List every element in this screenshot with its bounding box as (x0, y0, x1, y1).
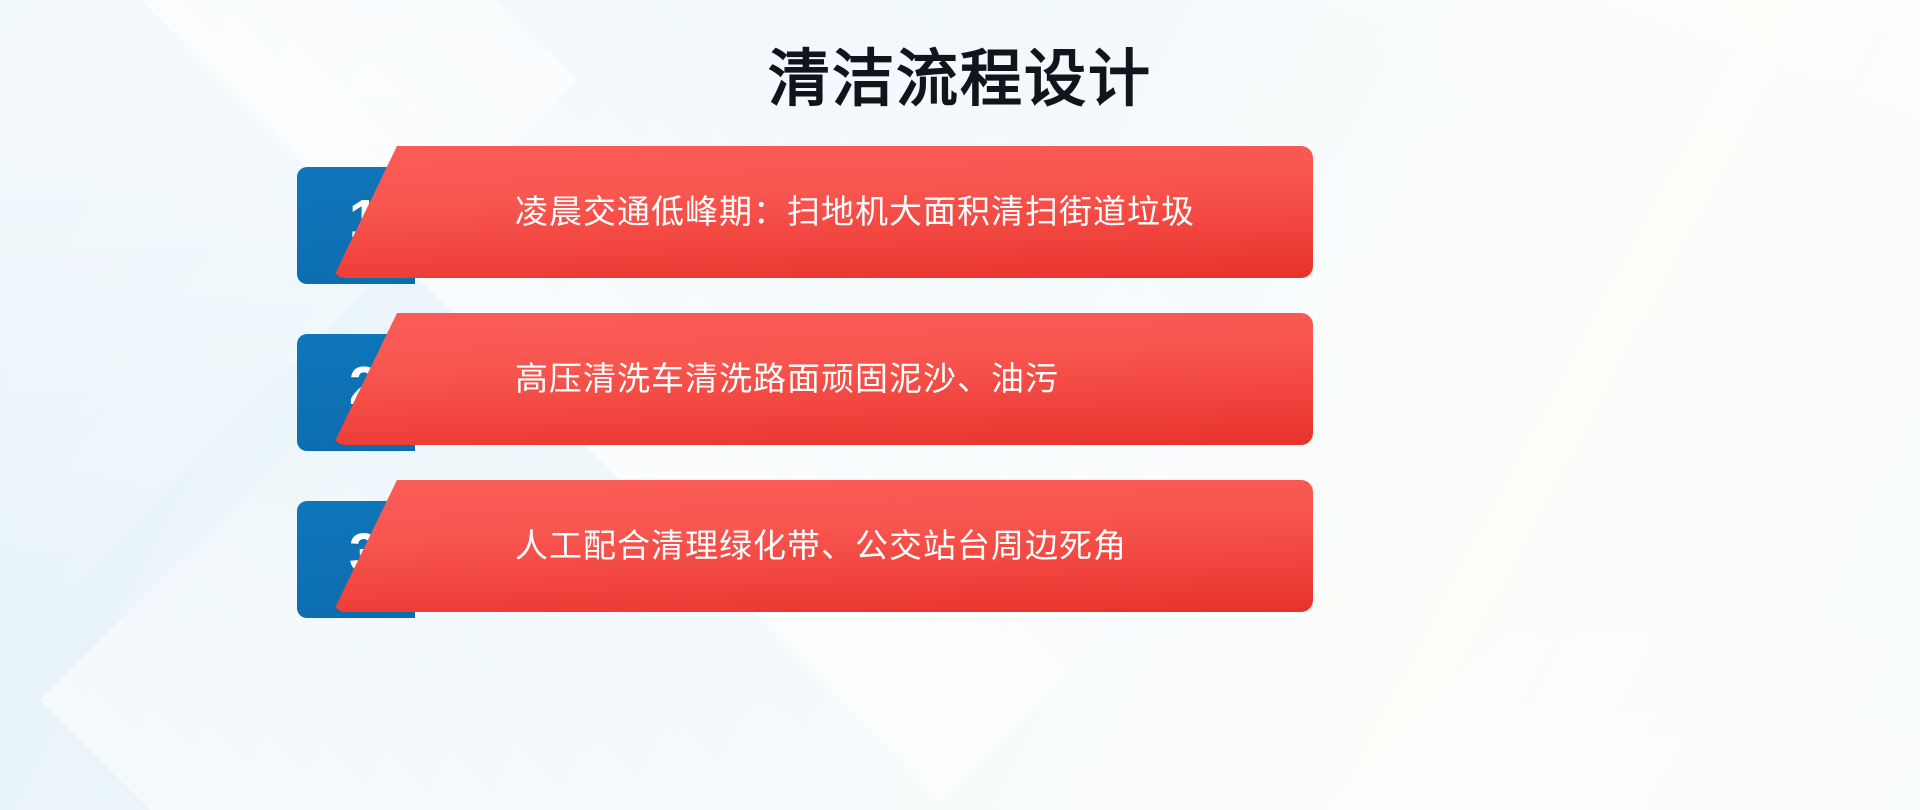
step-text-label: 高压清洗车清洗路面顽固泥沙、油污 (333, 358, 1089, 400)
step-row[interactable]: 3 人工配合清理绿化带、公交站台周边死角 (297, 480, 1577, 618)
step-row[interactable]: 2 高压清洗车清洗路面顽固泥沙、油污 (297, 313, 1577, 451)
step-list: 1 凌晨交通低峰期：扫地机大面积清扫街道垃圾 2 高压清洗车清洗路面顽固泥沙、油… (297, 146, 1577, 618)
slide-canvas: 清洁流程设计 1 凌晨交通低峰期：扫地机大面积清扫街道垃圾 2 高压清洗车清洗路… (0, 0, 1920, 810)
step-text-label: 凌晨交通低峰期：扫地机大面积清扫街道垃圾 (333, 191, 1225, 233)
step-card-1[interactable]: 凌晨交通低峰期：扫地机大面积清扫街道垃圾 (333, 146, 1313, 278)
step-row[interactable]: 1 凌晨交通低峰期：扫地机大面积清扫街道垃圾 (297, 146, 1577, 284)
step-text-label: 人工配合清理绿化带、公交站台周边死角 (333, 525, 1157, 567)
page-title: 清洁流程设计 (0, 44, 1920, 116)
step-card-3[interactable]: 人工配合清理绿化带、公交站台周边死角 (333, 480, 1313, 612)
step-card-2[interactable]: 高压清洗车清洗路面顽固泥沙、油污 (333, 313, 1313, 445)
